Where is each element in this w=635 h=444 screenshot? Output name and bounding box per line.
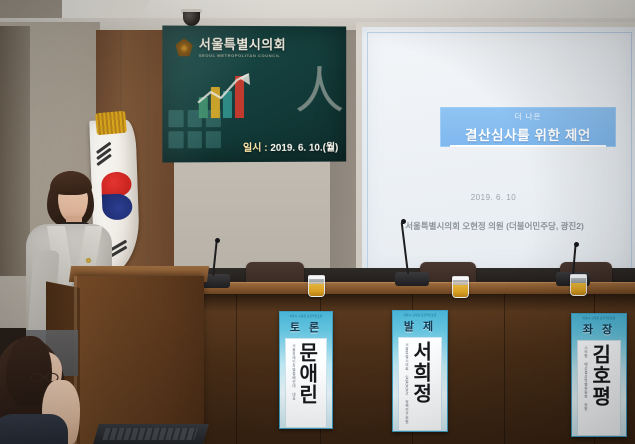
slide-title: 결산심사를 위한 제언 bbox=[465, 124, 591, 144]
tea-glass bbox=[452, 276, 469, 298]
wall-seam bbox=[148, 30, 149, 282]
nameplate-card: 시의원 예산결산특별위원회 위원 김호평 bbox=[577, 340, 621, 436]
banner-bar-chart-graphic bbox=[197, 72, 259, 118]
microphone-head-icon bbox=[215, 238, 220, 243]
chart-bar bbox=[199, 97, 208, 118]
chart-bar bbox=[211, 87, 220, 118]
nameplate-header: 서울시 교육청 공간혁신포럼 bbox=[583, 317, 616, 320]
slide-supertitle: 더 나은 bbox=[515, 111, 542, 122]
banner-org-name-ko: 서울특별시의회 bbox=[199, 38, 286, 51]
slide-border bbox=[367, 32, 632, 269]
slide-title-box: 더 나은 결산심사를 위한 제언 bbox=[440, 107, 616, 147]
seoul-council-emblem-icon bbox=[175, 38, 194, 57]
nameplate-chair: 서울시 교육청 공간혁신포럼 좌 장 시의원 예산결산특별위원회 위원 김호평 bbox=[571, 313, 627, 437]
banner-decor-squares bbox=[168, 110, 220, 148]
nameplate-name: 서희정 bbox=[410, 341, 430, 404]
upward-trend-arrow-icon bbox=[197, 72, 259, 118]
tea-glass bbox=[570, 274, 587, 296]
nameplate-role: 토 론 bbox=[290, 319, 322, 335]
nameplate-name: 김호평 bbox=[589, 344, 609, 407]
slide-date: 2019. 6. 10 bbox=[362, 193, 625, 202]
banner-date-label: 일시 : bbox=[243, 143, 267, 154]
nameplate-name: 문애린 bbox=[296, 342, 316, 405]
microphone-base bbox=[395, 272, 429, 286]
taeguk-blue bbox=[102, 193, 133, 220]
laptop-keyboard bbox=[102, 428, 197, 440]
microphone-head-icon bbox=[574, 242, 579, 247]
flag-fringe bbox=[95, 111, 127, 136]
nameplate-affiliation: 서울장애인차별철폐연대 대표 bbox=[291, 344, 296, 422]
nameplate-affiliation: 서울특별시의회 입법담당관 정책연구위원 bbox=[404, 343, 409, 425]
nameplate-card: 서울특별시의회 입법담당관 정책연구위원 서희정 bbox=[398, 337, 442, 431]
nameplate-role: 좌 장 bbox=[583, 321, 615, 337]
attendee-shoulder bbox=[0, 414, 68, 444]
banner-hanja-character: 人 bbox=[295, 66, 344, 116]
banner-date-value: 2019. 6. 10.(월) bbox=[270, 143, 338, 154]
nameplate-discussant: 서울시 교육청 공간혁신포럼 토 론 서울장애인차별철폐연대 대표 문애린 bbox=[279, 311, 333, 429]
left-wall-column bbox=[0, 26, 30, 276]
nameplate-affiliation: 시의원 예산결산특별위원회 위원 bbox=[583, 346, 588, 430]
nameplate-card: 서울장애인차별철폐연대 대표 문애린 bbox=[285, 338, 327, 428]
event-banner: 서울특별시의회 SEOUL METROPOLITAN COUNCIL 人 일시 … bbox=[162, 25, 346, 162]
nameplate-presenter: 서울시 교육청 공간혁신포럼 발 제 서울특별시의회 입법담당관 정책연구위원 … bbox=[392, 310, 448, 432]
nameplate-role: 발 제 bbox=[404, 318, 436, 334]
podium bbox=[74, 276, 204, 444]
banner-date: 일시 : 2019. 6. 10.(월) bbox=[243, 139, 338, 154]
nameplate-header: 서울시 교육청 공간혁신포럼 bbox=[290, 315, 323, 318]
tea-glass bbox=[308, 275, 325, 297]
chart-bar bbox=[223, 91, 232, 118]
nameplate-header: 서울시 교육청 공간혁신포럼 bbox=[404, 314, 437, 317]
speaker-lapel-pin bbox=[86, 258, 91, 263]
banner-logo: 서울특별시의회 SEOUL METROPOLITAN COUNCIL bbox=[175, 38, 287, 58]
banner-org-name-en: SEOUL METROPOLITAN COUNCIL bbox=[199, 53, 286, 58]
slide-title-underline bbox=[450, 145, 606, 147]
chart-bar bbox=[235, 76, 244, 118]
microphone-head-icon bbox=[401, 219, 406, 224]
conference-photo-scene: 서울특별시의회 SEOUL METROPOLITAN COUNCIL 人 일시 … bbox=[0, 0, 635, 444]
